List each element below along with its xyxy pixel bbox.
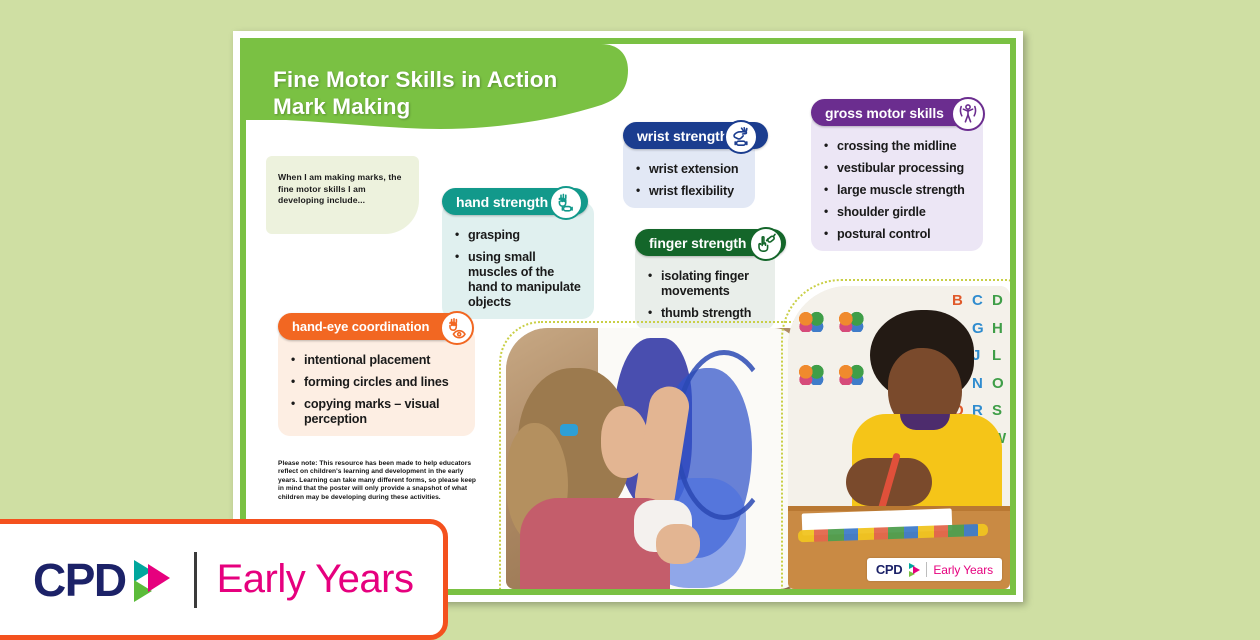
chevron-logo-icon [908,563,920,577]
intro-note-text: When I am making marks, the fine motor s… [266,156,419,207]
photo-dotted-outline [506,328,796,589]
card-gross-motor-skills-bullets: crossing the midline vestibular processi… [821,139,973,242]
list-item: wrist flexibility [633,184,745,199]
list-item: postural control [821,227,973,242]
list-item: vestibular processing [821,161,973,176]
finger-dumbbell-icon [749,227,783,261]
please-note-text: Please note: This resource has been made… [278,460,483,502]
wrist-dumbbell-icon [724,120,758,154]
poster-canvas: Fine Motor Skills in Action Mark Making … [246,44,1010,589]
list-item: crossing the midline [821,139,973,154]
page-title-line1: Fine Motor Skills in Action [273,66,613,93]
list-item: shoulder girdle [821,205,973,220]
early-years-text: Early Years [217,557,414,602]
list-item: wrist extension [633,162,745,177]
logo-divider [926,562,927,577]
chevron-logo-icon [134,556,178,604]
photo-dotted-outline [788,286,1010,589]
body-figure-icon [951,97,985,131]
cpd-logo-text: CPD [33,553,126,607]
cpd-logo-text: CPD [876,562,903,577]
cpd-early-years-banner: CPD Early Years [0,519,448,640]
card-gross-motor-skills-body: crossing the midline vestibular processi… [811,113,983,251]
list-item: forming circles and lines [288,375,465,390]
photo-collage: BCDEGHIJLMNOQRSTVWXY [483,286,1010,589]
hand-eye-icon [440,311,474,345]
intro-note-box: When I am making marks, the fine motor s… [266,156,419,234]
poster-inner-border: Fine Motor Skills in Action Mark Making … [240,38,1016,595]
logo-divider [194,552,197,608]
list-item: large muscle strength [821,183,973,198]
list-item: copying marks – visual perception [288,397,465,427]
early-years-text: Early Years [933,563,993,577]
page-title: Fine Motor Skills in Action Mark Making [273,66,613,120]
card-hand-eye-coordination-body: intentional placement forming circles an… [278,327,475,436]
hand-dumbbell-icon [549,186,583,220]
card-hand-eye-coordination-bullets: intentional placement forming circles an… [288,353,465,427]
poster-cpd-badge: CPD Early Years [867,558,1002,581]
list-item: grasping [452,228,584,243]
card-wrist-strength-bullets: wrist extension wrist flexibility [633,162,745,199]
page-title-line2: Mark Making [273,93,613,120]
poster-frame: Fine Motor Skills in Action Mark Making … [233,31,1023,602]
list-item: intentional placement [288,353,465,368]
